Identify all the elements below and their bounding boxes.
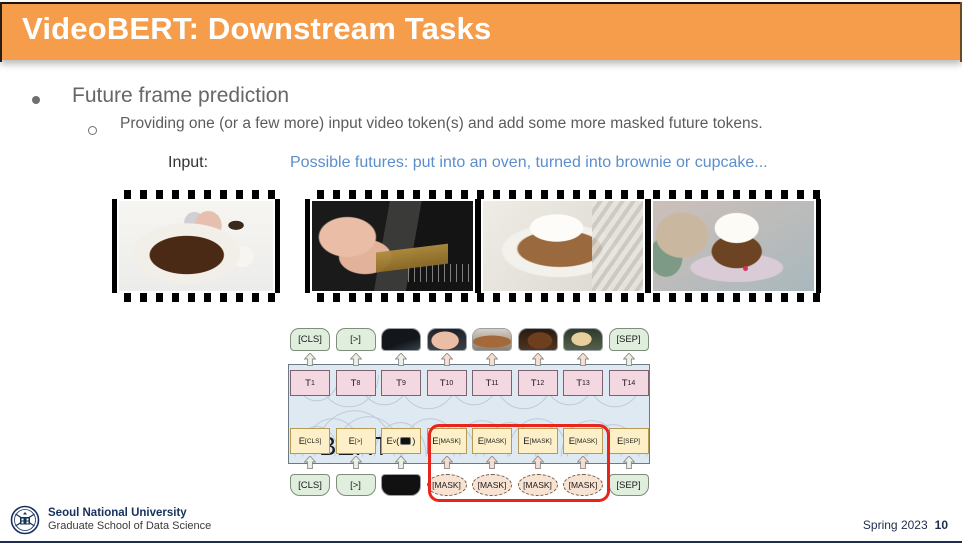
transformer-output-T13[interactable]: T13 — [563, 370, 603, 396]
video-frame-cupcake — [651, 199, 816, 293]
output-video-token[interactable] — [427, 328, 467, 351]
slide: VideoBERT: Downstream Tasks Future frame… — [0, 0, 962, 543]
flow-arrow-icon — [441, 353, 453, 366]
input-video-frame[interactable] — [381, 474, 421, 496]
flow-arrow-icon — [532, 456, 544, 469]
input-mask-token[interactable]: [MASK] — [563, 474, 603, 496]
input-token-cls[interactable]: [CLS] — [290, 474, 330, 496]
embedding-mask[interactable]: E[MASK] — [427, 428, 467, 454]
flow-arrow-icon — [304, 353, 316, 366]
input-mask-token[interactable]: [MASK] — [472, 474, 512, 496]
banner-left-edge — [0, 2, 2, 62]
flow-arrow-icon — [532, 353, 544, 366]
bert-architecture-diagram: BERT [CLS]T1E[CLS][CLS][>]T8E[>][>]T9Ev(… — [288, 328, 650, 504]
bullet-ring-icon — [88, 126, 97, 135]
input-caption: Input: — [168, 154, 208, 172]
snu-seal-icon — [10, 505, 40, 535]
embedding-[interactable]: E[>] — [336, 428, 376, 454]
embedding-mask[interactable]: E[MASK] — [472, 428, 512, 454]
transformer-output-T1[interactable]: T1 — [290, 370, 330, 396]
bullet-level2-label: Providing one (or a few more) input vide… — [120, 115, 763, 133]
input-filmstrip — [112, 190, 280, 302]
output-token-cls[interactable]: [CLS] — [290, 328, 330, 351]
banner-top-edge — [0, 2, 962, 4]
flow-arrow-icon — [623, 353, 635, 366]
flow-arrow-icon — [577, 353, 589, 366]
filmstrip-perforations-top — [112, 190, 280, 199]
input-token-sep[interactable]: [SEP] — [609, 474, 649, 496]
flow-arrow-icon — [304, 456, 316, 469]
flow-arrow-icon — [395, 353, 407, 366]
bullet-level2: Providing one (or a few more) input vide… — [88, 118, 962, 142]
filmstrip-perforations-top — [305, 190, 821, 199]
flow-arrow-icon — [441, 456, 453, 469]
video-frame-batter — [117, 199, 275, 293]
filmstrip-perforations-bottom — [305, 293, 821, 302]
flow-arrow-icon — [395, 456, 407, 469]
footer-branding: Seoul National University Graduate Schoo… — [10, 504, 211, 536]
filmstrip-frames — [117, 199, 275, 293]
output-video-token[interactable] — [563, 328, 603, 351]
footer-page-number: 10 — [935, 518, 948, 532]
footer-term: Spring 2023 — [863, 518, 928, 532]
transformer-output-T8[interactable]: T8 — [336, 370, 376, 396]
flow-arrow-icon — [486, 456, 498, 469]
embedding-v[interactable]: Ev() — [381, 428, 421, 454]
embedding-sep[interactable]: E[SEP] — [609, 428, 649, 454]
page-title: VideoBERT: Downstream Tasks — [22, 11, 491, 47]
flow-arrow-icon — [623, 456, 635, 469]
embedding-mask[interactable]: E[MASK] — [563, 428, 603, 454]
input-token-[interactable]: [>] — [336, 474, 376, 496]
footer-school: Graduate School of Data Science — [48, 520, 211, 533]
output-token-sep[interactable]: [SEP] — [609, 328, 649, 351]
output-token-[interactable]: [>] — [336, 328, 376, 351]
possible-futures-caption: Possible futures: put into an oven, turn… — [290, 154, 768, 172]
video-frame-oven — [310, 199, 475, 293]
output-video-token[interactable] — [518, 328, 558, 351]
transformer-output-T10[interactable]: T10 — [427, 370, 467, 396]
output-video-token[interactable] — [472, 328, 512, 351]
flow-arrow-icon — [350, 353, 362, 366]
flow-arrow-icon — [577, 456, 589, 469]
input-mask-token[interactable]: [MASK] — [427, 474, 467, 496]
video-frame-brownie — [481, 199, 646, 293]
transformer-output-T9[interactable]: T9 — [381, 370, 421, 396]
footer-meta: Spring 202310 — [863, 518, 948, 532]
input-mask-token[interactable]: [MASK] — [518, 474, 558, 496]
footer-university: Seoul National University — [48, 507, 211, 521]
transformer-output-T12[interactable]: T12 — [518, 370, 558, 396]
future-filmstrip — [305, 190, 821, 302]
output-video-token[interactable] — [381, 328, 421, 351]
transformer-output-T14[interactable]: T14 — [609, 370, 649, 396]
bullet-level1: Future frame prediction — [32, 86, 932, 114]
filmstrip-perforations-bottom — [112, 293, 280, 302]
flow-arrow-icon — [486, 353, 498, 366]
transformer-output-T11[interactable]: T11 — [472, 370, 512, 396]
video-chip-icon — [400, 437, 411, 445]
embedding-mask[interactable]: E[MASK] — [518, 428, 558, 454]
bullet-level1-label: Future frame prediction — [72, 84, 289, 108]
bullet-dot-icon — [32, 96, 40, 104]
flow-arrow-icon — [350, 456, 362, 469]
embedding-cls[interactable]: E[CLS] — [290, 428, 330, 454]
filmstrip-frames — [310, 199, 816, 293]
slide-title-banner: VideoBERT: Downstream Tasks — [0, 2, 962, 60]
